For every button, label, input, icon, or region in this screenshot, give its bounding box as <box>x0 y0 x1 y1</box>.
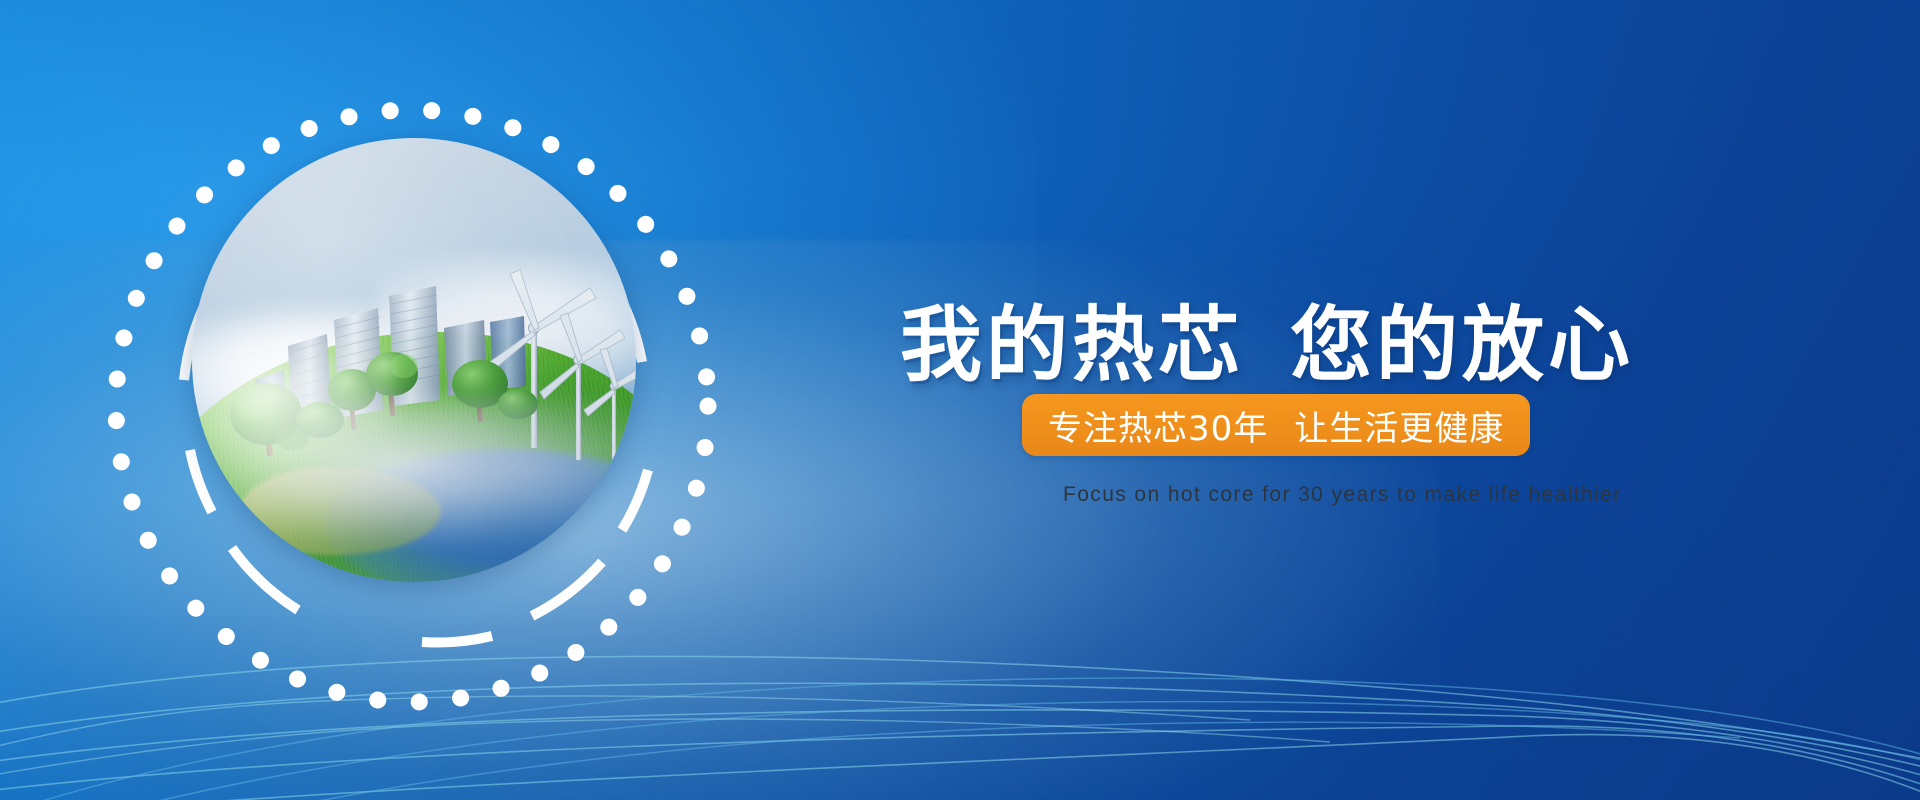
badge-part-2: 让生活更健康 <box>1294 409 1504 449</box>
hero-banner: 我的热芯您的放心 专注热芯30年让生活更健康 Focus on hot core… <box>0 0 1920 800</box>
badge-text: 专注热芯30年让生活更健康 <box>1048 401 1504 450</box>
eco-globe-image <box>192 138 636 582</box>
headline-part-1: 我的热芯 <box>900 298 1244 393</box>
english-subtitle: Focus on hot core for 30 years to make l… <box>1063 483 1622 507</box>
tagline-badge: 专注热芯30年让生活更健康 <box>1022 394 1530 456</box>
badge-part-1: 专注热芯30年 <box>1048 409 1268 449</box>
page-title: 我的热芯您的放心 <box>900 278 1634 397</box>
eco-circle-graphic <box>62 50 762 760</box>
headline-part-2: 您的放心 <box>1290 298 1634 393</box>
globe-mist-bottom <box>192 396 636 547</box>
